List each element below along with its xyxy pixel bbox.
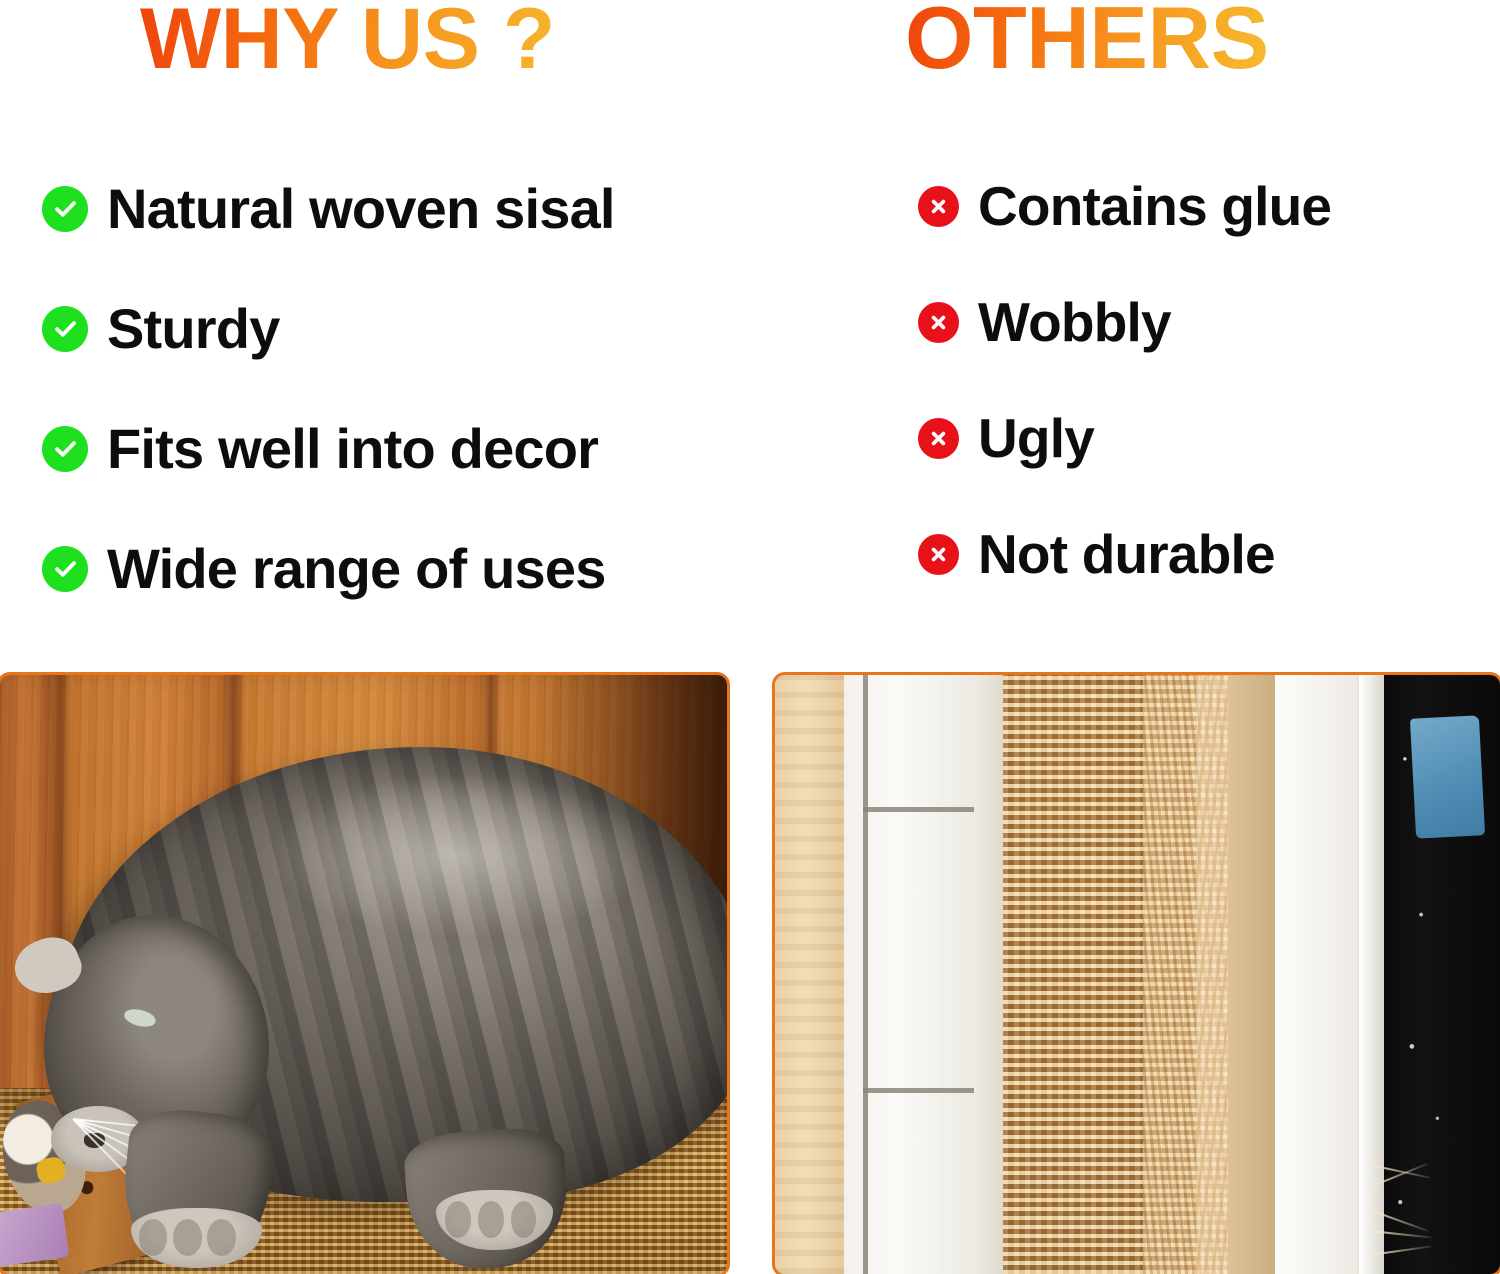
list-item: Wobbly <box>918 294 1331 350</box>
list-item: Contains glue <box>918 178 1331 234</box>
purple-cloth <box>0 1203 69 1266</box>
list-item: Wide range of uses <box>42 540 615 597</box>
cross-circle-icon <box>918 186 959 227</box>
list-item: Fits well into decor <box>42 420 615 477</box>
tile-grout-line-upper <box>863 807 974 812</box>
check-circle-icon <box>42 426 88 472</box>
tile-grout-line-vertical <box>863 675 868 1274</box>
list-item-label: Wide range of uses <box>107 540 606 597</box>
list-item: Ugly <box>918 410 1331 466</box>
pros-heading: WHY US ? <box>140 0 555 82</box>
list-item: Natural woven sisal <box>42 180 615 237</box>
cat-sunlight-highlight <box>268 774 652 938</box>
list-item: Not durable <box>918 526 1331 582</box>
pros-list: Natural woven sisal Sturdy Fits well int… <box>42 180 615 597</box>
tile-grout-line-lower <box>863 1088 974 1093</box>
loose-sisal-fibers <box>1370 1124 1472 1256</box>
list-item-label: Ugly <box>978 410 1094 466</box>
list-item-label: Natural woven sisal <box>107 180 615 237</box>
blue-tape-patch <box>1410 715 1485 838</box>
worn-sisal-mat <box>1003 675 1228 1274</box>
cons-heading: OTHERS <box>905 0 1269 82</box>
list-item: Sturdy <box>42 300 615 357</box>
list-item-label: Not durable <box>978 526 1275 582</box>
cross-circle-icon <box>918 534 959 575</box>
cross-circle-icon <box>918 418 959 459</box>
list-item-label: Wobbly <box>978 294 1171 350</box>
cons-list: Contains glue Wobbly Ugly Not durable <box>918 178 1331 642</box>
check-circle-icon <box>42 306 88 352</box>
list-item-label: Fits well into decor <box>107 420 598 477</box>
pros-photo <box>0 672 730 1274</box>
comparison-infographic: WHY US ? Natural woven sisal Sturdy Fits… <box>0 0 1500 1274</box>
list-item-label: Sturdy <box>107 300 280 357</box>
door-frame-wood-left <box>775 675 844 1274</box>
door-frame-wood-right <box>1228 675 1275 1274</box>
check-circle-icon <box>42 186 88 232</box>
check-circle-icon <box>42 546 88 592</box>
cons-photo <box>772 672 1500 1274</box>
white-trim <box>974 675 1004 1274</box>
list-item-label: Contains glue <box>978 178 1331 234</box>
cross-circle-icon <box>918 302 959 343</box>
